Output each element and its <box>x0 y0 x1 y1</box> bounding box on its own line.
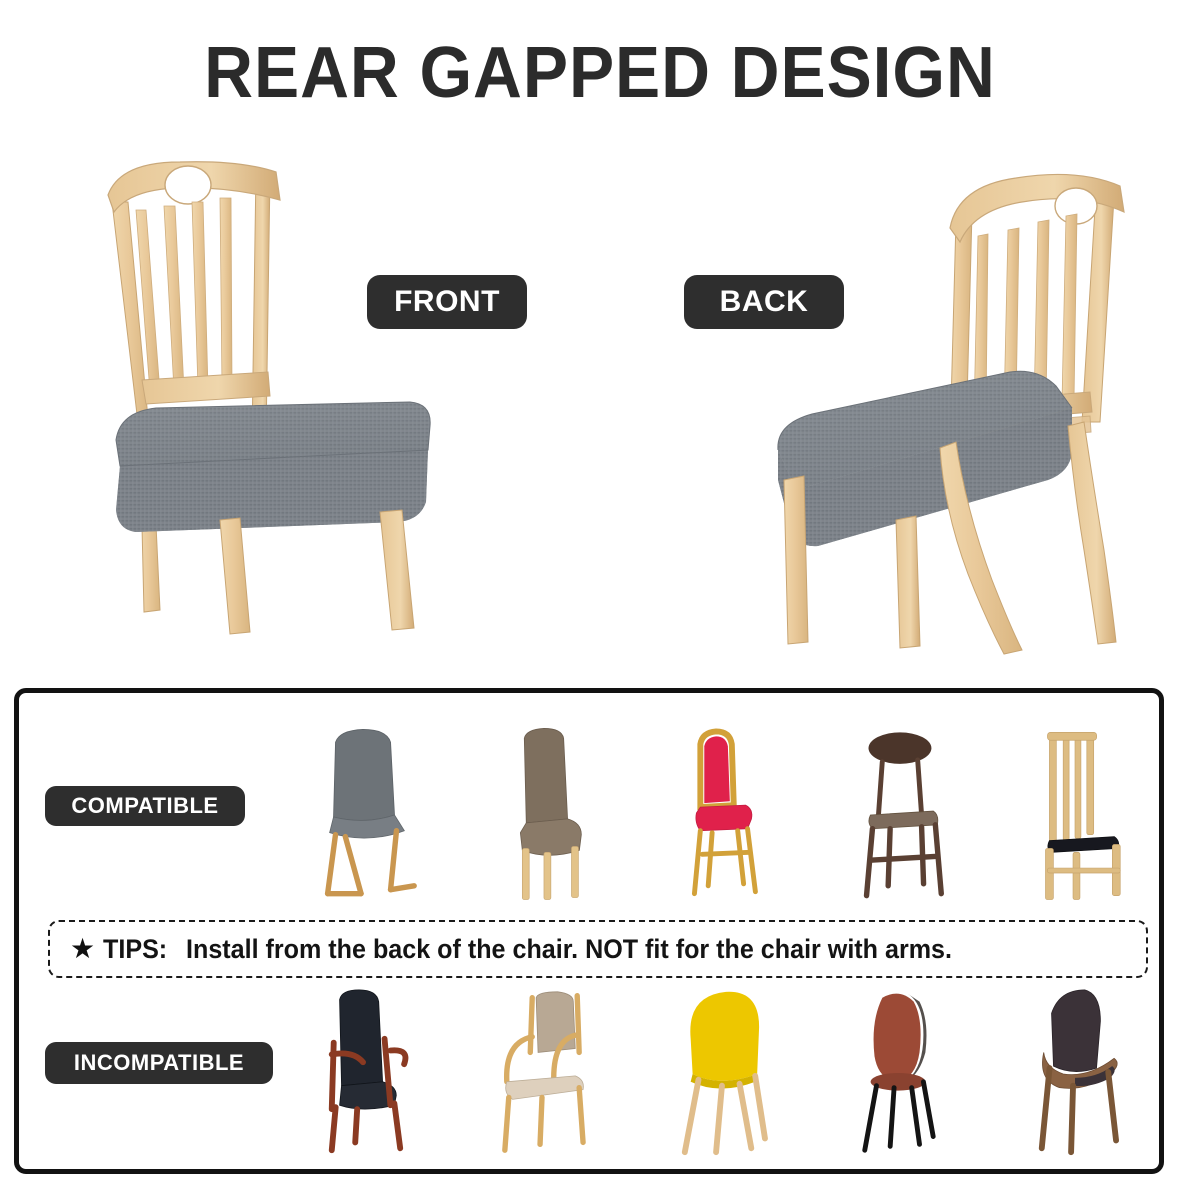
badge-compatible: COMPATIBLE <box>45 786 245 826</box>
hero-chair-back <box>760 150 1160 660</box>
incompatible-chair-3 <box>631 980 809 1160</box>
compatible-chair-5 <box>986 716 1164 908</box>
incompatible-chair-4 <box>809 980 987 1160</box>
star-icon: ★ <box>70 935 95 963</box>
infographic-page: REAR GAPPED DESIGN <box>0 0 1200 1200</box>
compatible-chair-row <box>276 716 1164 908</box>
badge-incompatible: INCOMPATIBLE <box>45 1042 273 1084</box>
compatible-chair-2 <box>454 716 632 908</box>
hero-chair-front <box>80 140 460 640</box>
page-title: REAR GAPPED DESIGN <box>36 32 1164 114</box>
incompatible-chair-5 <box>986 980 1164 1160</box>
compatible-chair-3 <box>631 716 809 908</box>
tips-banner: ★ TIPS: Install from the back of the cha… <box>48 920 1148 978</box>
compatible-chair-4 <box>809 716 987 908</box>
badge-front: FRONT <box>367 275 527 329</box>
incompatible-chair-2 <box>454 980 632 1160</box>
tips-label: TIPS: <box>103 934 167 965</box>
incompatible-chair-1 <box>276 980 454 1160</box>
tips-text: Install from the back of the chair. NOT … <box>186 934 952 965</box>
compatible-chair-1 <box>276 716 454 908</box>
incompatible-chair-row <box>276 980 1164 1160</box>
